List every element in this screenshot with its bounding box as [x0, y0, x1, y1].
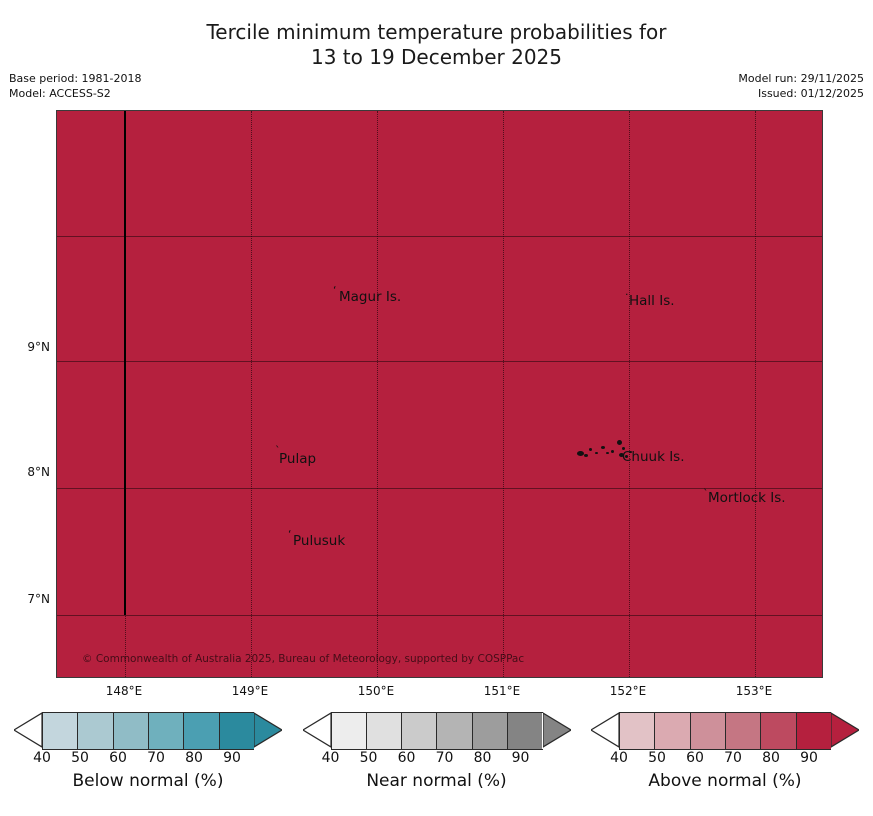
- hall-island-marker: ·: [625, 289, 629, 300]
- colorbar-below-over-arrow: [254, 712, 282, 748]
- place-label-chuuk-is: Chuuk Is.: [622, 449, 685, 465]
- swatch-near-50: [367, 713, 402, 749]
- gridline-lon-151: [503, 111, 504, 677]
- place-label-hall-is: Hall Is.: [629, 293, 675, 309]
- lon-tick-149e: 149°E: [220, 684, 280, 698]
- ctick-above-90: 90: [789, 750, 829, 766]
- colorbar-near-swatches: [331, 712, 543, 750]
- colorbar-near-under-arrow: [303, 712, 331, 748]
- metadata-right: Model run: 29/11/2025 Issued: 01/12/2025: [738, 71, 864, 101]
- gridline-lon-153: [755, 111, 756, 677]
- pulusuk-island-marker: ‘: [288, 529, 292, 540]
- magur-island-marker: ‘: [333, 285, 337, 296]
- title-line-1: Tercile minimum temperature probabilitie…: [0, 20, 873, 45]
- colorbar-below-label: Below normal (%): [73, 771, 224, 791]
- forecast-map[interactable]: ‘ Magur Is. · Hall Is. ` Pulap Chuuk Is.…: [56, 110, 823, 678]
- lon-tick-152e: 152°E: [598, 684, 658, 698]
- swatch-near-80: [473, 713, 508, 749]
- swatch-near-90: [508, 713, 542, 749]
- ctick-below-70: 70: [136, 750, 176, 766]
- colorbar-below-swatches: [42, 712, 254, 750]
- copyright-text: © Commonwealth of Australia 2025, Bureau…: [82, 653, 524, 665]
- model-run-text: Model run: 29/11/2025: [738, 71, 864, 86]
- swatch-below-70: [149, 713, 184, 749]
- issued-text: Issued: 01/12/2025: [738, 86, 864, 101]
- colorbar-above-label: Above normal (%): [648, 771, 801, 791]
- place-label-magur-is: Magur Is.: [339, 289, 401, 305]
- lat-tick-9n: 9°N: [4, 340, 50, 354]
- swatch-near-60: [402, 713, 437, 749]
- ctick-below-40: 40: [22, 750, 62, 766]
- swatch-above-90: [797, 713, 831, 749]
- lat-tick-8n: 8°N: [4, 465, 50, 479]
- colorbar-below-under-arrow: [14, 712, 42, 748]
- lon-tick-148e: 148°E: [94, 684, 154, 698]
- place-label-mortlock-is: Mortlock Is.: [708, 490, 786, 506]
- ctick-near-50: 50: [349, 750, 389, 766]
- ctick-below-80: 80: [174, 750, 214, 766]
- title-line-2: 13 to 19 December 2025: [0, 45, 873, 70]
- colorbar-above-normal[interactable]: 40 50 60 70 80 90 Above normal (%): [589, 712, 861, 812]
- ctick-above-50: 50: [637, 750, 677, 766]
- swatch-below-40: [42, 713, 78, 749]
- place-label-pulusuk: Pulusuk: [293, 533, 345, 549]
- swatch-above-70: [726, 713, 761, 749]
- swatch-near-70: [437, 713, 472, 749]
- gridline-lon-152: [629, 111, 630, 677]
- colorbar-near-label: Near normal (%): [366, 771, 506, 791]
- swatch-above-50: [655, 713, 690, 749]
- longitude-axis: 148°E 149°E 150°E 151°E 152°E 153°E: [56, 684, 823, 704]
- colorbar-above-swatches: [619, 712, 831, 750]
- swatch-below-90: [220, 713, 254, 749]
- ctick-below-50: 50: [60, 750, 100, 766]
- swatch-below-80: [184, 713, 219, 749]
- lon-tick-153e: 153°E: [724, 684, 784, 698]
- colorbar-near-normal[interactable]: 40 50 60 70 80 90 Near normal (%): [301, 712, 573, 812]
- latitude-axis: 9°N 8°N 7°N 6°N: [0, 110, 50, 678]
- gridline-lon-149: [251, 111, 252, 677]
- colorbar-legends: 40 50 60 70 80 90 Below normal (%): [0, 712, 873, 812]
- colorbar-above-over-arrow: [831, 712, 859, 748]
- gridline-lat-6: [57, 615, 822, 616]
- metadata-left: Base period: 1981-2018 Model: ACCESS-S2: [9, 71, 141, 101]
- swatch-below-50: [78, 713, 113, 749]
- colorbar-above-under-arrow: [591, 712, 619, 748]
- gridline-lon-150: [377, 111, 378, 677]
- gridline-lat-9: [57, 236, 822, 237]
- colorbar-below-normal[interactable]: 40 50 60 70 80 90 Below normal (%): [12, 712, 284, 812]
- model-text: Model: ACCESS-S2: [9, 86, 141, 101]
- swatch-near-40: [331, 713, 367, 749]
- boundary-line: [124, 111, 126, 615]
- ctick-near-60: 60: [387, 750, 427, 766]
- swatch-above-60: [691, 713, 726, 749]
- ctick-near-40: 40: [311, 750, 351, 766]
- base-period-text: Base period: 1981-2018: [9, 71, 141, 86]
- ctick-above-80: 80: [751, 750, 791, 766]
- ctick-near-90: 90: [501, 750, 541, 766]
- ctick-near-70: 70: [425, 750, 465, 766]
- ctick-above-60: 60: [675, 750, 715, 766]
- ctick-near-80: 80: [463, 750, 503, 766]
- page-title: Tercile minimum temperature probabilitie…: [0, 20, 873, 70]
- ctick-above-40: 40: [599, 750, 639, 766]
- swatch-above-40: [619, 713, 655, 749]
- gridline-lat-8: [57, 361, 822, 362]
- swatch-below-60: [114, 713, 149, 749]
- ctick-below-90: 90: [212, 750, 252, 766]
- swatch-above-80: [761, 713, 796, 749]
- ctick-above-70: 70: [713, 750, 753, 766]
- lon-tick-151e: 151°E: [472, 684, 532, 698]
- lat-tick-7n: 7°N: [4, 592, 50, 606]
- ctick-below-60: 60: [98, 750, 138, 766]
- place-label-pulap: Pulap: [279, 451, 316, 467]
- colorbar-near-over-arrow: [543, 712, 571, 748]
- lon-tick-150e: 150°E: [346, 684, 406, 698]
